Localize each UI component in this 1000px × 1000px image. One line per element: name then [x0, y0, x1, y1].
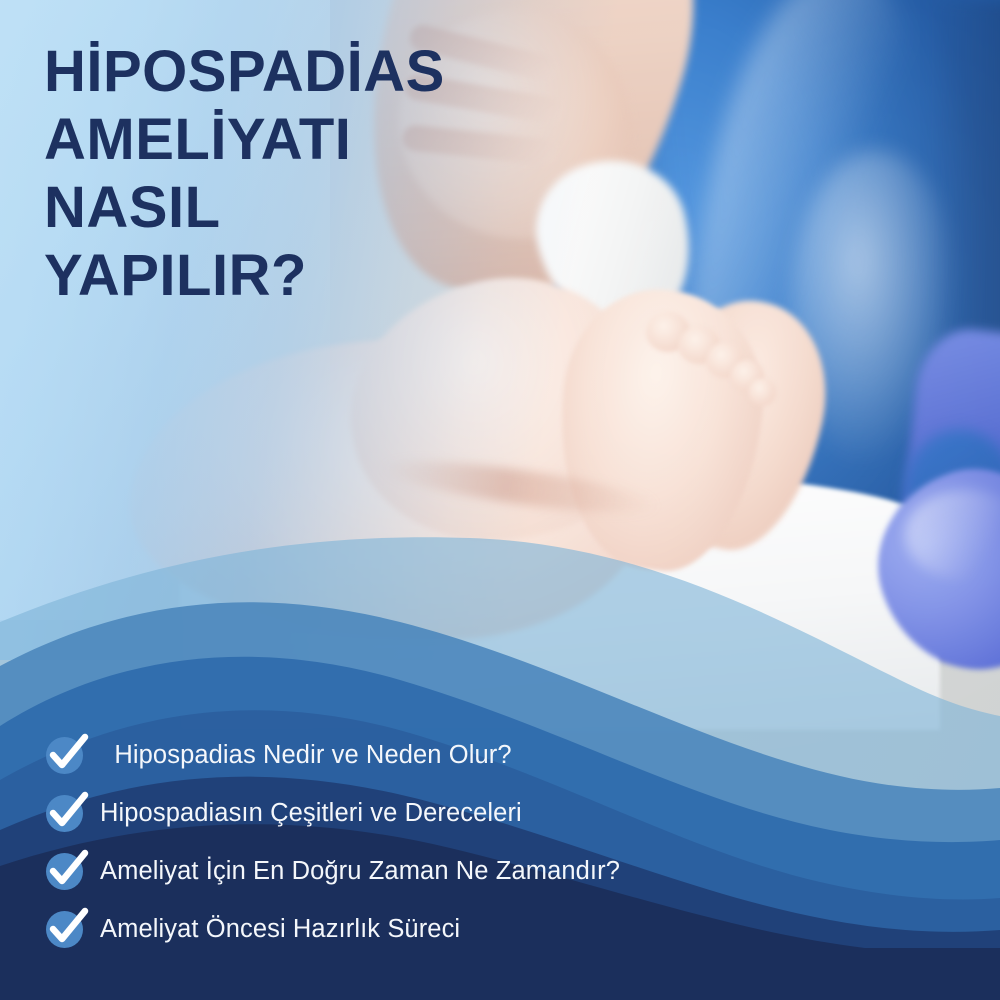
title-line-3: NASIL [44, 174, 684, 242]
title-line-1: HİPOSPADİAS [44, 38, 684, 106]
page-title: HİPOSPADİAS AMELİYATI NASIL YAPILIR? [44, 38, 684, 309]
list-item-label: Ameliyat Öncesi Hazırlık Süreci [100, 915, 460, 944]
title-line-4: YAPILIR? [44, 242, 684, 310]
check-circle-icon [44, 790, 90, 836]
list-item-label: Hipospadias Nedir ve Neden Olur? [100, 741, 512, 770]
check-circle-icon [44, 732, 90, 778]
list-item-label: Hipospadiasın Çeşitleri ve Dereceleri [100, 799, 522, 828]
list-item[interactable]: Ameliyat Öncesi Hazırlık Süreci [44, 900, 944, 958]
list-item[interactable]: Hipospadiasın Çeşitleri ve Dereceleri [44, 784, 944, 842]
check-circle-icon [44, 906, 90, 952]
check-circle-icon [44, 848, 90, 894]
title-line-2: AMELİYATI [44, 106, 684, 174]
list-item[interactable]: Ameliyat İçin En Doğru Zaman Ne Zamandır… [44, 842, 944, 900]
list-item-label: Ameliyat İçin En Doğru Zaman Ne Zamandır… [100, 857, 620, 886]
list-item[interactable]: Hipospadias Nedir ve Neden Olur? [44, 726, 944, 784]
poster-canvas: HİPOSPADİAS AMELİYATI NASIL YAPILIR? [0, 0, 1000, 1000]
checklist: Hipospadias Nedir ve Neden Olur? Hipospa… [44, 726, 944, 958]
